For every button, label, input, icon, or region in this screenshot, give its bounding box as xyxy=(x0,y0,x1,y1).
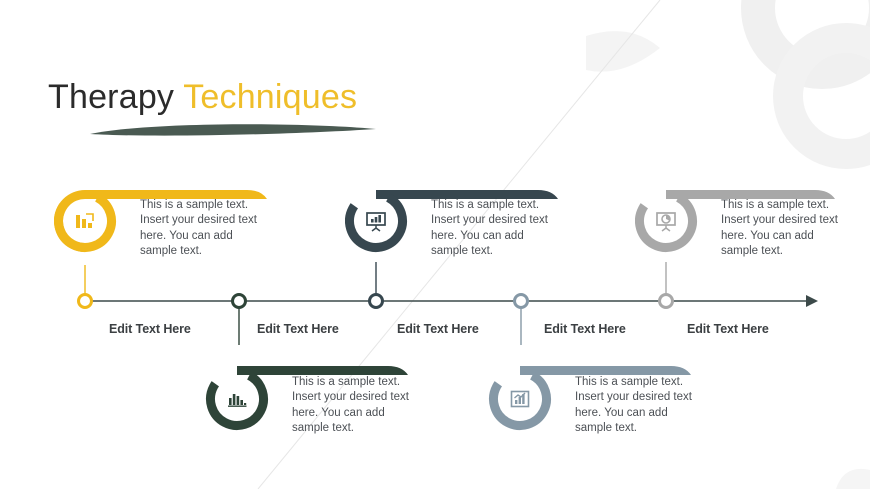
info-item-3[interactable]: This is a sample text. Insert your desir… xyxy=(635,182,850,268)
timeline-node-2[interactable] xyxy=(233,295,246,308)
timeline-label-1[interactable]: Edit Text Here xyxy=(109,322,191,336)
info-item-5[interactable]: This is a sample text. Insert your desir… xyxy=(486,358,701,448)
bar-chart-declining-icon xyxy=(67,203,103,239)
timeline-label-2[interactable]: Edit Text Here xyxy=(257,322,339,336)
info-item-2[interactable]: This is a sample text. Insert your desir… xyxy=(345,182,560,268)
timeline-label-3[interactable]: Edit Text Here xyxy=(397,322,479,336)
timeline-node-1[interactable] xyxy=(79,295,92,308)
histogram-icon xyxy=(219,381,255,417)
timeline-arrowhead xyxy=(806,295,818,307)
item-4-text: This is a sample text. Insert your desir… xyxy=(292,375,416,437)
info-item-1[interactable]: This is a sample text. Insert your desir… xyxy=(54,182,269,268)
item-3-text: This is a sample text. Insert your desir… xyxy=(721,198,845,260)
presentation-pie-chart-icon xyxy=(648,203,684,239)
timeline-node-5[interactable] xyxy=(660,295,673,308)
info-item-4[interactable]: This is a sample text. Insert your desir… xyxy=(203,358,418,448)
timeline-label-5[interactable]: Edit Text Here xyxy=(687,322,769,336)
timeline-node-3[interactable] xyxy=(370,295,383,308)
item-1-text: This is a sample text. Insert your desir… xyxy=(140,198,264,260)
item-5-text: This is a sample text. Insert your desir… xyxy=(575,375,699,437)
growth-chart-arrow-icon xyxy=(502,381,538,417)
timeline-node-4[interactable] xyxy=(515,295,528,308)
presentation-bar-chart-icon xyxy=(358,203,394,239)
item-2-text: This is a sample text. Insert your desir… xyxy=(431,198,555,260)
timeline-label-4[interactable]: Edit Text Here xyxy=(544,322,626,336)
slide-canvas: Therapy Techniques Edit Text Here Edit T… xyxy=(0,0,870,489)
